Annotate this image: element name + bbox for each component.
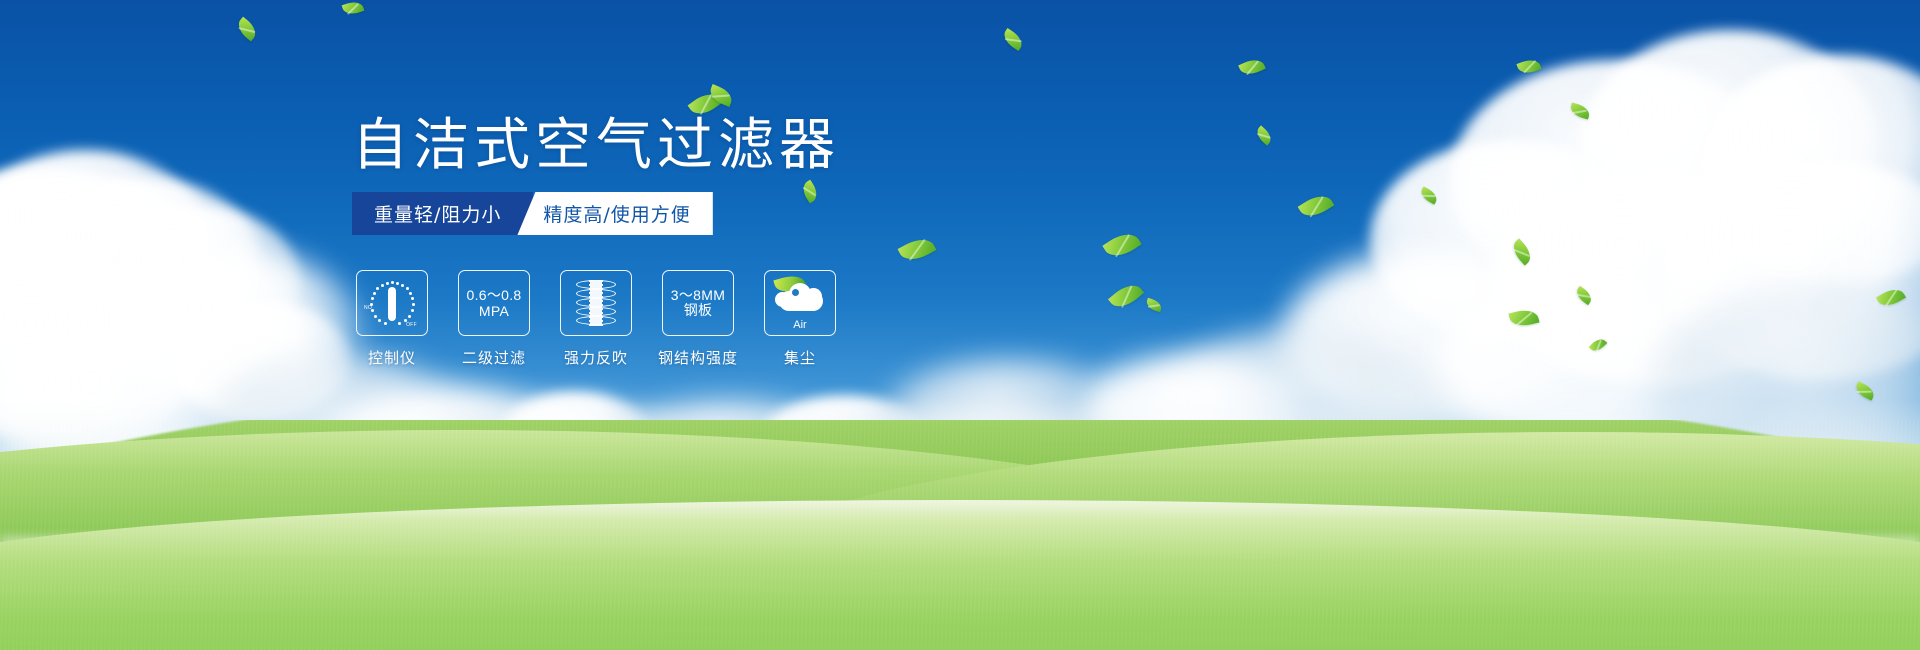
dial-off-label: OFF (406, 322, 417, 328)
dial-on-label: NO (364, 305, 372, 311)
feature-item-backblow[interactable]: 强力反吹 (560, 270, 632, 368)
pressure-text-icon: 0.6～0.8 MPA (466, 287, 521, 319)
feature-icon-box: 0.6～0.8 MPA (458, 270, 530, 336)
feature-label: 集尘 (784, 347, 816, 368)
feature-label: 强力反吹 (564, 347, 628, 368)
pressure-unit: MPA (466, 303, 521, 319)
feature-item-dust[interactable]: Air 集尘 (764, 270, 836, 368)
feature-icon-row: NO OFF 控制仪 0.6～0.8 MPA 二级过滤 (356, 270, 836, 368)
steel-material: 钢板 (671, 303, 725, 319)
product-hero-banner: 自洁式空气过滤器 重量轻/阻力小 精度高/使用方便 (0, 0, 1920, 650)
feature-icon-box: NO OFF (356, 270, 428, 336)
feature-item-steel[interactable]: 3～8MM 钢板 钢结构强度 (662, 270, 734, 368)
air-label: Air (771, 319, 829, 331)
feature-icon-box (560, 270, 632, 336)
feature-label: 钢结构强度 (658, 347, 738, 368)
coil-backblow-icon (573, 278, 619, 328)
feature-label: 二级过滤 (462, 347, 526, 368)
feature-item-control[interactable]: NO OFF 控制仪 (356, 270, 428, 368)
banner-content: 自洁式空气过滤器 重量轻/阻力小 精度高/使用方便 (0, 0, 1920, 650)
feature-item-pressure[interactable]: 0.6～0.8 MPA 二级过滤 (458, 270, 530, 368)
dial-pointer (388, 287, 396, 321)
tagline-pill-primary[interactable]: 重量轻/阻力小 (352, 192, 533, 235)
control-dial-icon: NO OFF (365, 278, 419, 328)
tagline-pill-group: 重量轻/阻力小 精度高/使用方便 (352, 192, 713, 235)
pressure-range: 0.6～0.8 (466, 287, 521, 303)
feature-icon-box: Air (764, 270, 836, 336)
coil-shaft (590, 280, 602, 326)
tagline-pill-secondary[interactable]: 精度高/使用方便 (517, 192, 712, 235)
steel-thickness: 3～8MM (671, 287, 725, 303)
page-title: 自洁式空气过滤器 (352, 118, 840, 174)
feature-label: 控制仪 (368, 347, 416, 368)
feature-icon-box: 3～8MM 钢板 (662, 270, 734, 336)
air-cloud-icon: Air (771, 278, 829, 328)
steel-plate-text-icon: 3～8MM 钢板 (671, 287, 725, 319)
